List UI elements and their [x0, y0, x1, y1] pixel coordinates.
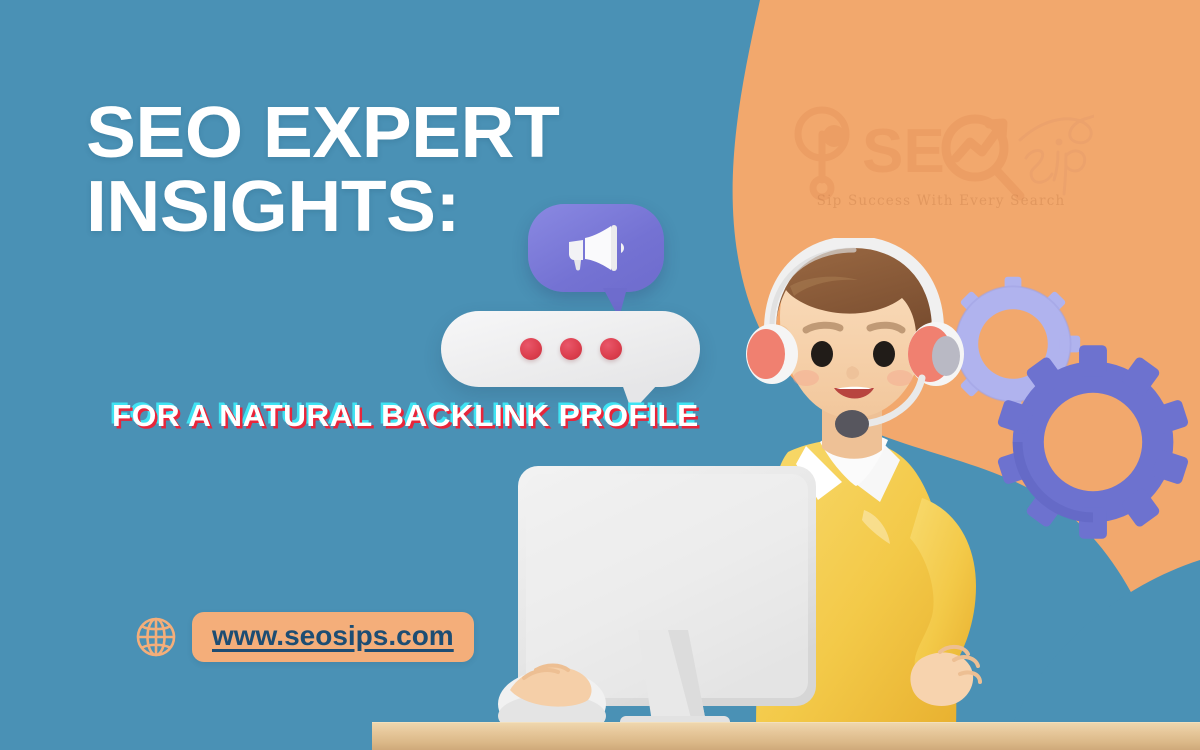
website-url-badge[interactable]: www.seosips.com	[192, 612, 474, 662]
headline-line-1: SEO EXPERT	[86, 96, 772, 170]
support-agent-illustration	[470, 238, 1090, 750]
website-url-text[interactable]: www.seosips.com	[212, 620, 454, 651]
page-title: SEO EXPERT INSIGHTS:	[86, 96, 772, 244]
desk-surface	[372, 722, 1200, 750]
website-url-row[interactable]: www.seosips.com	[134, 612, 474, 662]
seo-banner: SE Sip Success With Every Search SEO EXP…	[0, 0, 1200, 750]
globe-icon	[134, 615, 178, 659]
headline-line-2: INSIGHTS:	[86, 170, 772, 244]
brand-tagline: Sip Success With Every Search	[788, 193, 1094, 209]
